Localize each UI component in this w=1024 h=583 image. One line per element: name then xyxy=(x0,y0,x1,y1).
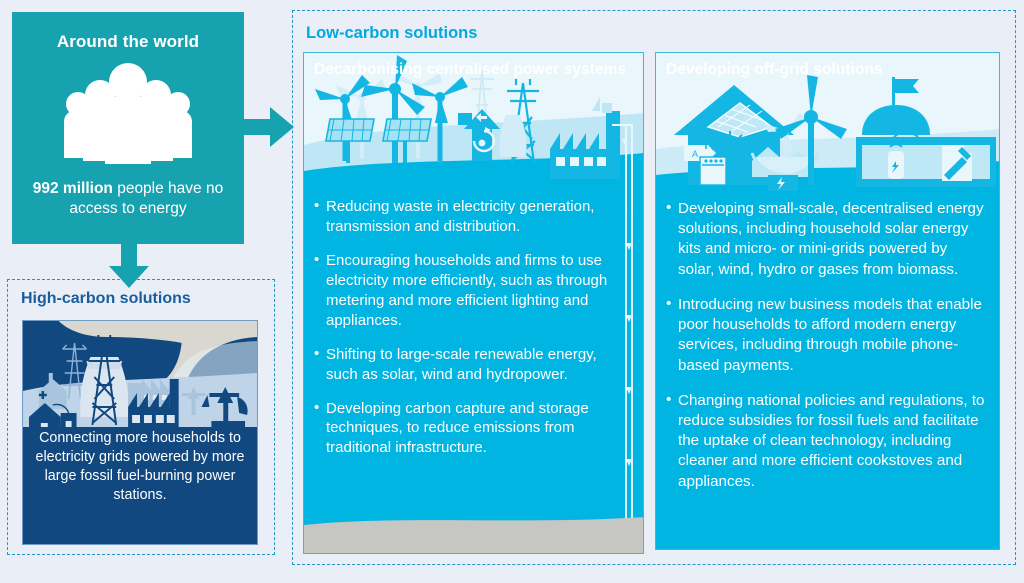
low-carbon-title: Low-carbon solutions xyxy=(306,24,477,43)
panel-developing-off-grid-solutions: A xyxy=(655,52,1000,550)
stat-card-title: Around the world xyxy=(57,32,199,52)
fossil-power-station-illustration xyxy=(23,321,257,433)
stat-card-caption: 992 million people have no access to ene… xyxy=(12,179,244,220)
panel-right-heading: Developing off-grid solutions xyxy=(656,53,999,79)
people-group-icon xyxy=(57,60,199,169)
list-item: Encouraging households and firms to use … xyxy=(314,251,631,331)
arrow-right-icon xyxy=(244,104,296,150)
list-item: Introducing new business models that ena… xyxy=(666,295,987,376)
panel-decarbonising-centralised-power-systems: Decarbonising centralised power systems … xyxy=(303,52,644,554)
list-item: Developing small-scale, decentralised en… xyxy=(666,199,987,280)
list-item: Shifting to large-scale renewable energy… xyxy=(314,345,631,385)
stat-value: 992 million xyxy=(33,180,113,197)
list-item: Reducing waste in electricity generation… xyxy=(314,197,631,237)
high-carbon-title: High-carbon solutions xyxy=(21,290,191,308)
svg-text:A: A xyxy=(692,149,698,159)
panel-right-bullets: Developing small-scale, decentralised en… xyxy=(656,199,999,492)
list-item: Developing carbon capture and storage te… xyxy=(314,399,631,459)
around-the-world-stat-card: Around the world 992 million people h xyxy=(12,12,244,244)
high-carbon-text: Connecting more households to electricit… xyxy=(23,429,257,505)
high-carbon-card: Connecting more households to electricit… xyxy=(22,320,258,545)
list-item: Changing national policies and regulatio… xyxy=(666,391,987,492)
panel-left-heading: Decarbonising centralised power systems xyxy=(304,53,643,79)
panel-left-bullets: Reducing waste in electricity generation… xyxy=(304,197,643,458)
infographic-canvas: Around the world 992 million people h xyxy=(0,0,1024,583)
